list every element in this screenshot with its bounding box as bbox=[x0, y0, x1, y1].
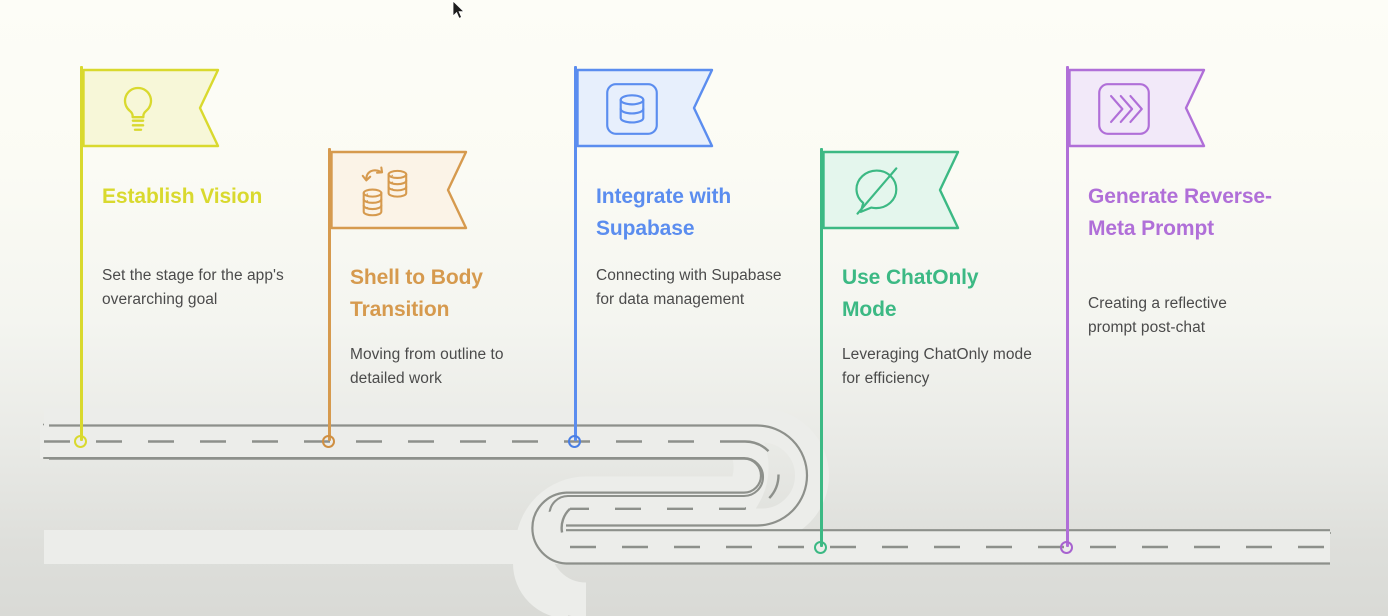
milestone-generate-reverse-meta-prompt[interactable]: Generate Reverse-Meta PromptCreating a r… bbox=[1066, 0, 1276, 616]
milestone-title: Shell to Body Transition bbox=[350, 262, 538, 326]
database-icon bbox=[604, 82, 660, 136]
database-migration-icon bbox=[358, 164, 414, 218]
chat-off-icon bbox=[850, 164, 906, 218]
milestone-title: Integrate with Supabase bbox=[596, 181, 784, 245]
milestone-description: Moving from outline to detailed work bbox=[350, 343, 540, 391]
road-marker-establish-vision[interactable] bbox=[74, 435, 87, 448]
milestone-title: Generate Reverse-Meta Prompt bbox=[1088, 181, 1276, 245]
milestone-flag[interactable] bbox=[330, 150, 470, 230]
milestone-description: Connecting with Supabase for data manage… bbox=[596, 264, 786, 312]
milestone-flag[interactable] bbox=[1068, 68, 1208, 148]
milestone-integrate-with-supabase[interactable]: Integrate with SupabaseConnecting with S… bbox=[574, 0, 784, 616]
milestone-use-chatonly-mode[interactable]: Use ChatOnly ModeLeveraging ChatOnly mod… bbox=[820, 0, 1030, 616]
milestone-flag[interactable] bbox=[576, 68, 716, 148]
milestone-flag[interactable] bbox=[82, 68, 222, 148]
milestone-description: Leveraging ChatOnly mode for efficiency bbox=[842, 343, 1032, 391]
road-marker-shell-to-body-transition[interactable] bbox=[322, 435, 335, 448]
milestone-description: Set the stage for the app's overarching … bbox=[102, 264, 292, 312]
road-marker-use-chatonly-mode[interactable] bbox=[814, 541, 827, 554]
road-marker-generate-reverse-meta-prompt[interactable] bbox=[1060, 541, 1073, 554]
milestone-title: Use ChatOnly Mode bbox=[842, 262, 1030, 326]
mouse-pointer-icon bbox=[452, 0, 466, 20]
milestone-flag[interactable] bbox=[822, 150, 962, 230]
road-marker-integrate-with-supabase[interactable] bbox=[568, 435, 581, 448]
milestone-title: Establish Vision bbox=[102, 181, 290, 213]
triple-chevron-icon bbox=[1096, 82, 1152, 136]
milestone-shell-to-body-transition[interactable]: Shell to Body TransitionMoving from outl… bbox=[328, 0, 538, 616]
milestone-establish-vision[interactable]: Establish VisionSet the stage for the ap… bbox=[80, 0, 290, 616]
lightbulb-icon bbox=[110, 82, 166, 136]
milestone-description: Creating a reflective prompt post-chat bbox=[1088, 292, 1278, 340]
roadmap-diagram: Establish VisionSet the stage for the ap… bbox=[0, 0, 1388, 616]
